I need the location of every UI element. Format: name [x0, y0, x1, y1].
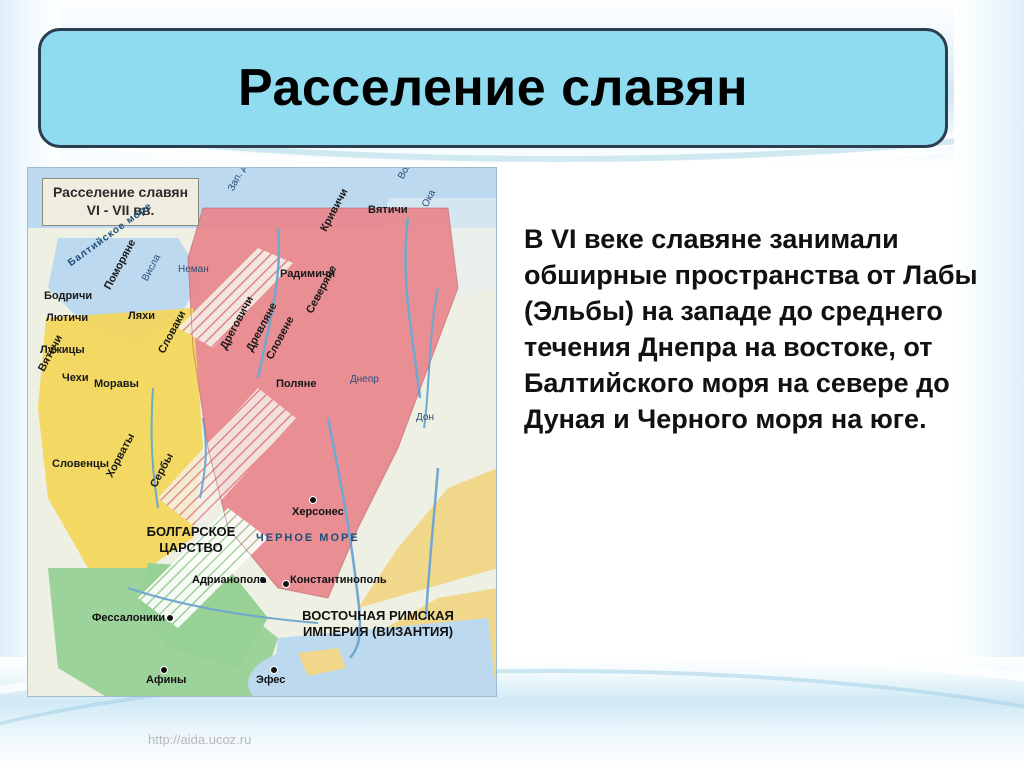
- map-city-marker: [166, 614, 174, 622]
- map-city-marker: [160, 666, 168, 674]
- slide-body-text: В VI веке славяне занимали обширные прос…: [524, 222, 994, 437]
- map-city-marker: [259, 576, 267, 584]
- map-city-marker: [270, 666, 278, 674]
- map-city-marker: [282, 580, 290, 588]
- slide-title-box: Расселение славян: [38, 28, 948, 148]
- page-title: Расселение славян: [238, 58, 748, 118]
- map-legend-line2: VI - VII вв.: [53, 202, 188, 220]
- footer-url: http://aida.ucoz.ru: [148, 732, 251, 747]
- slide: Расселение славян: [0, 0, 1024, 767]
- map-legend: Расселение славян VI - VII вв.: [42, 178, 199, 226]
- historical-map-image: Расселение славян VI - VII вв. Словене В…: [27, 167, 497, 697]
- map-city-marker: [309, 496, 317, 504]
- map-legend-line1: Расселение славян: [53, 184, 188, 202]
